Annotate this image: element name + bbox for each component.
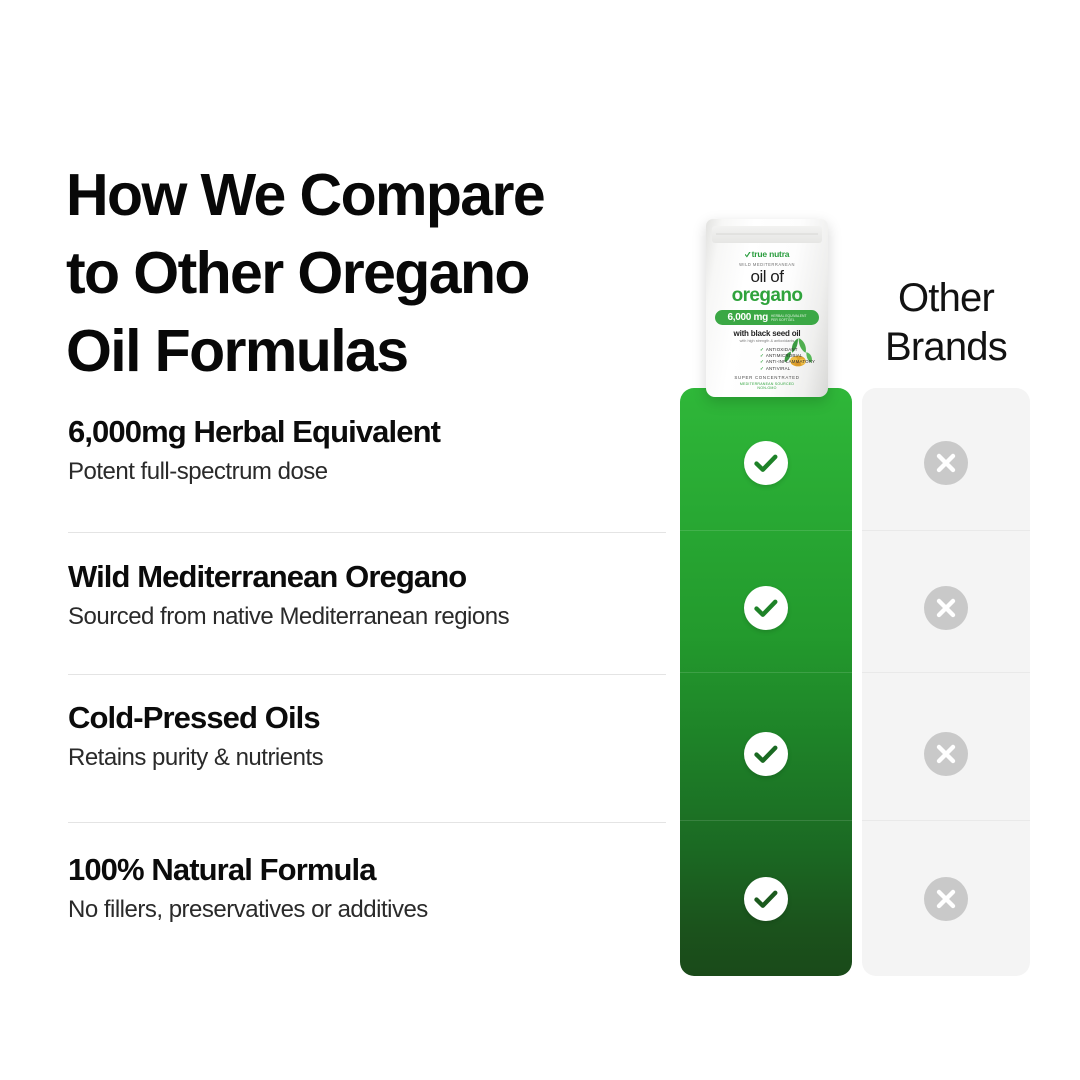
product-dose-badge: 6,000 mg HERBAL EQUIVALENT PER SOFTGEL bbox=[715, 310, 819, 325]
other-brands-label-line-1: Other bbox=[862, 274, 1030, 323]
x-circle-icon bbox=[924, 877, 968, 921]
column-divider bbox=[680, 672, 852, 673]
product-title-line-2: oregano bbox=[706, 286, 828, 306]
feature-description: Retains purity & nutrients bbox=[68, 743, 668, 773]
x-circle-icon bbox=[924, 586, 968, 630]
feature-row-1: 6,000mg Herbal Equivalent Potent full-sp… bbox=[68, 414, 668, 487]
check-circle-icon bbox=[744, 732, 788, 776]
feature-description: Sourced from native Mediterranean region… bbox=[68, 602, 668, 632]
page-title-line-3: Oil Formulas bbox=[66, 312, 706, 390]
brand-name: true nutra bbox=[752, 249, 790, 259]
product-dose-note-1: HERBAL EQUIVALENT bbox=[771, 314, 807, 318]
x-circle-icon bbox=[924, 732, 968, 776]
feature-title: 100% Natural Formula bbox=[68, 852, 668, 888]
product-dose-amount: 6,000 mg bbox=[727, 312, 767, 323]
feature-description: No fillers, preservatives or additives bbox=[68, 895, 668, 925]
feature-row-2: Wild Mediterranean Oregano Sourced from … bbox=[68, 559, 668, 632]
column-divider bbox=[680, 530, 852, 531]
other-brands-label-line-2: Brands bbox=[862, 323, 1030, 372]
feature-row-4: 100% Natural Formula No fillers, preserv… bbox=[68, 852, 668, 925]
check-circle-icon bbox=[744, 586, 788, 630]
comparison-infographic: How We Compare to Other Oregano Oil Form… bbox=[0, 0, 1080, 1080]
feature-title: 6,000mg Herbal Equivalent bbox=[68, 414, 668, 450]
check-circle-icon bbox=[744, 877, 788, 921]
check-circle-icon bbox=[744, 441, 788, 485]
feature-title: Cold-Pressed Oils bbox=[68, 700, 668, 736]
product-title-line-1: oil of bbox=[706, 268, 828, 286]
product-footer: SUPER CONCENTRATED bbox=[706, 375, 828, 380]
feature-description: Potent full-spectrum dose bbox=[68, 457, 668, 487]
column-divider bbox=[680, 820, 852, 821]
page-title-line-2: to Other Oregano bbox=[66, 234, 706, 312]
column-divider bbox=[862, 672, 1030, 673]
row-divider bbox=[68, 822, 666, 823]
x-circle-icon bbox=[924, 441, 968, 485]
brand-logo: true nutra bbox=[706, 249, 828, 259]
page-title-line-1: How We Compare bbox=[66, 156, 706, 234]
page-title: How We Compare to Other Oregano Oil Form… bbox=[66, 156, 706, 390]
row-divider bbox=[68, 532, 666, 533]
leaf-icon bbox=[745, 252, 751, 258]
column-divider bbox=[862, 530, 1030, 531]
pouch-seal bbox=[712, 226, 822, 243]
product-footer-line-2: NON-GMO bbox=[706, 386, 828, 391]
product-benefit-list: ANTIOXIDANT ANTIMICROBIAL ANTI-INFLAMMAT… bbox=[720, 347, 828, 372]
product-footer-secondary: MEDITERRANEAN SOURCED NON-GMO bbox=[706, 382, 828, 391]
row-divider bbox=[68, 674, 666, 675]
feature-title: Wild Mediterranean Oregano bbox=[68, 559, 668, 595]
feature-row-3: Cold-Pressed Oils Retains purity & nutri… bbox=[68, 700, 668, 773]
other-brands-header: Other Brands bbox=[862, 274, 1030, 372]
product-package-image: true nutra WILD MEDITERRANEAN oil of ore… bbox=[706, 219, 828, 397]
product-dose-note-2: PER SOFTGEL bbox=[771, 318, 807, 322]
column-divider bbox=[862, 820, 1030, 821]
list-item: ANTIVIRAL bbox=[760, 366, 828, 372]
